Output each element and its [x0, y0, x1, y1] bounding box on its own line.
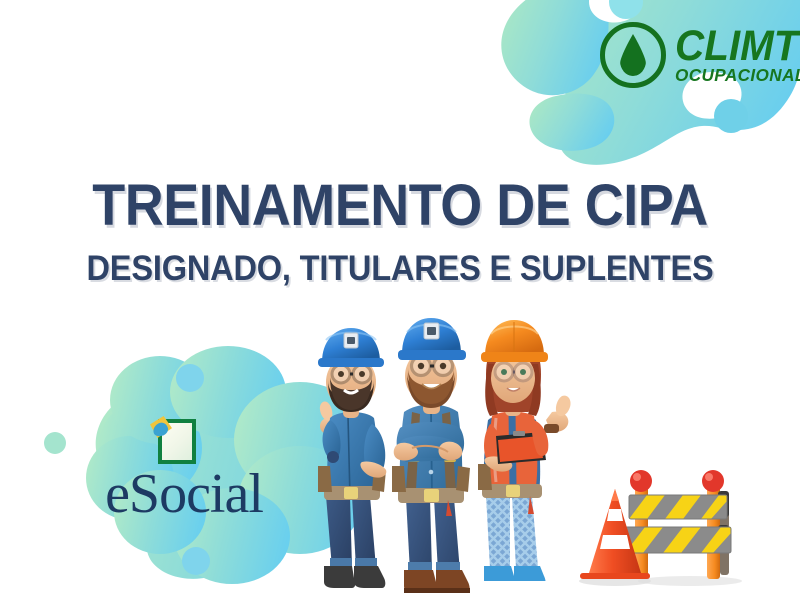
decorative-circle-top-right [714, 99, 748, 133]
decorative-circle-upper-left [176, 364, 204, 392]
barrier-lamp-right [702, 470, 724, 492]
barrier-plank-lower [625, 527, 731, 553]
worker-right-woman-with-clipboard [478, 320, 571, 587]
esocial-logo[interactable]: eSocial [104, 416, 264, 521]
barrier-plank-upper [629, 495, 727, 519]
document-with-folded-corner-icon [150, 416, 196, 466]
page-subtitle: DESIGNADO, TITULARES E SUPLENTES [28, 249, 772, 289]
decorative-circle-left [44, 432, 66, 454]
worker-left-pointing-up [318, 328, 386, 588]
worker-center-arms-crossed [392, 318, 470, 593]
climt-subtitle: OCUPACIONAL [675, 67, 800, 83]
page-title: TREINAMENTO DE CIPA [28, 176, 772, 235]
decorative-circle-bottom [182, 547, 210, 575]
water-drop-in-circle-icon [600, 22, 666, 88]
decorative-blob-top-lower-lobe [529, 94, 614, 151]
roadwork-barrier-and-cone-illustration [565, 455, 755, 595]
climt-wordmark: CLIMT [675, 27, 800, 67]
barrier-lamp-left [630, 470, 652, 492]
climt-ocupacional-logo[interactable]: CLIMT OCUPACIONAL [600, 22, 800, 88]
esocial-wordmark: eSocial [104, 468, 264, 521]
page-title-block: TREINAMENTO DE CIPA DESIGNADO, TITULARES… [0, 176, 800, 289]
poster-canvas: CLIMT OCUPACIONAL TREINAMENTO DE CIPA DE… [0, 0, 800, 600]
